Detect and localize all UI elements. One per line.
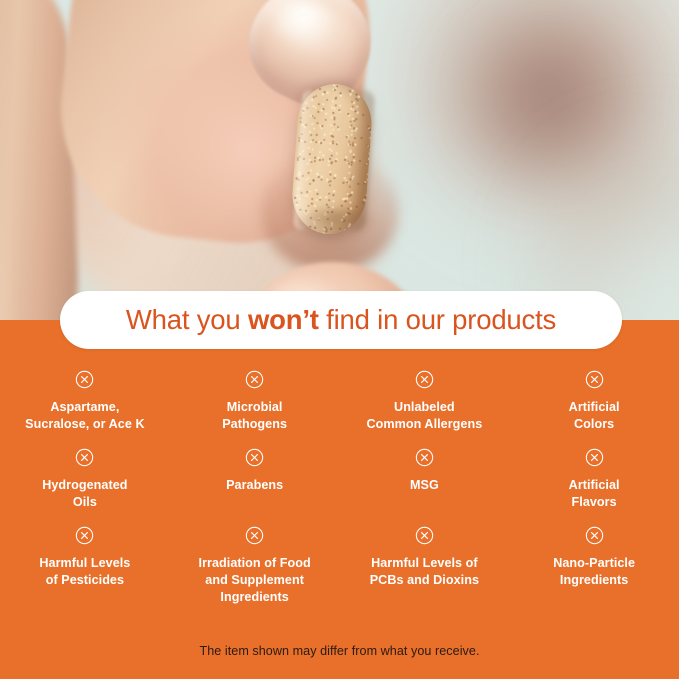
grid-item: Hydrogenated Oils [0,448,170,526]
grid-item: Nano-Particle Ingredients [509,526,679,608]
grid-item-label: Irradiation of Food and Supplement Ingre… [199,555,311,606]
grid-item-label: MSG [410,477,439,494]
circle-x-icon [415,448,434,467]
circle-x-icon [75,448,94,467]
grid-item: Harmful Levels of Pesticides [0,526,170,608]
grid-item-label: Parabens [226,477,283,494]
circle-x-icon [245,370,264,389]
circle-x-icon [415,370,434,389]
grid-item: Artificial Colors [509,370,679,448]
tablet-bottom-contact-shadow [292,210,378,244]
grid-item: Aspartame, Sucralose, or Ace K [0,370,170,448]
heading-plate: What you won’t find in our products [60,291,622,349]
grid-item: MSG [340,448,510,526]
grid-item-label: Harmful Levels of PCBs and Dioxins [370,555,479,589]
grid-item-label: Artificial Flavors [569,477,620,511]
grid-item: Harmful Levels of PCBs and Dioxins [340,526,510,608]
grid-item-label: Artificial Colors [569,399,620,433]
circle-x-icon [585,526,604,545]
grid-item-label: Microbial Pathogens [222,399,287,433]
grid-item-label: Unlabeled Common Allergens [366,399,482,433]
grid-item-label: Harmful Levels of Pesticides [39,555,130,589]
grid-item: Unlabeled Common Allergens [340,370,510,448]
grid-item: Irradiation of Food and Supplement Ingre… [170,526,340,608]
grid-item-label: Nano-Particle Ingredients [553,555,635,589]
circle-x-icon [75,370,94,389]
circle-x-icon [585,370,604,389]
page-title-emphasis: won’t [248,304,319,335]
page-title-part-2: find in our products [319,304,556,335]
grid-item: Parabens [170,448,340,526]
circle-x-icon [415,526,434,545]
disclaimer-text: The item shown may differ from what you … [0,644,679,658]
claims-panel: What you won’t find in our products Aspa… [0,320,679,679]
page-title-part-1: What you [126,304,248,335]
circle-x-icon [245,448,264,467]
grid-item: Artificial Flavors [509,448,679,526]
product-infographic: What you won’t find in our products Aspa… [0,0,679,679]
grid-item: Microbial Pathogens [170,370,340,448]
page-title: What you won’t find in our products [126,306,556,334]
circle-x-icon [585,448,604,467]
grid-item-label: Aspartame, Sucralose, or Ace K [25,399,144,433]
excluded-ingredients-grid: Aspartame, Sucralose, or Ace K Microbial… [0,370,679,608]
circle-x-icon [245,526,264,545]
grid-item-label: Hydrogenated Oils [42,477,127,511]
product-photo [0,0,679,322]
circle-x-icon [75,526,94,545]
